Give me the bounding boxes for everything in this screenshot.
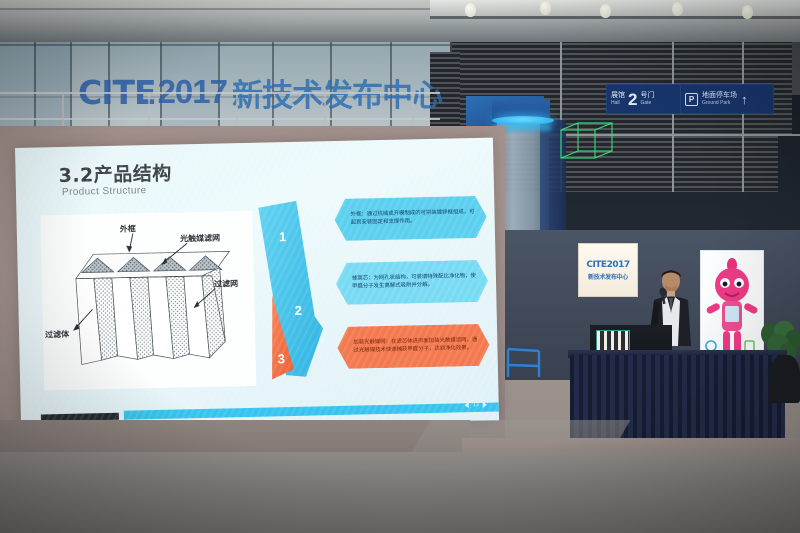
callout-step-2: 蜂窝芯：为网孔状结构，可装填特殊配比净化物，使甲醛分子发生离解式吸附并分解。 <box>336 260 489 305</box>
stage-banner-cite-text: CITE <box>586 260 606 270</box>
parking-label-cn: 地面停车场 <box>702 92 737 100</box>
stage-banner-year-text: 2017 <box>607 260 630 270</box>
gate-sign: 展馆 Hall 2 号门 Gate <box>606 84 686 114</box>
ceiling-lamp-2 <box>540 1 551 15</box>
diagram-label-filter-body: 过滤体 <box>45 329 69 341</box>
hall-label-en: Hall <box>611 100 625 106</box>
rail-post-4 <box>324 92 326 126</box>
parking-sign: P 地面停车场 Ground Park ↑ <box>680 84 774 114</box>
parking-label-en: Ground Park <box>702 100 737 106</box>
stage-banner-cite: CITE2017 <box>586 260 629 270</box>
rail-post-1 <box>62 92 64 126</box>
slide-page-number: 13 <box>473 402 479 408</box>
svg-text:3: 3 <box>277 351 285 366</box>
rail-post-2 <box>148 92 150 126</box>
svg-text:2: 2 <box>294 303 302 318</box>
gate-number: 2 <box>628 91 637 108</box>
callout-step-3: 加装光触媒网：在滤芯体进风面加装光触媒滤网，通过光触媒技术快速捕获甲醛分子，达到… <box>337 324 490 369</box>
gate-label-cn: 号门 <box>640 92 654 100</box>
blue-rail-prop <box>505 345 543 379</box>
leader-line-filter-body <box>71 308 98 333</box>
product-structure-diagram <box>40 211 256 391</box>
ceiling-lamp-4 <box>672 2 683 16</box>
leader-line-photocatalyst <box>157 242 192 267</box>
slide-subtitle: Product Structure <box>62 185 147 198</box>
hall-label-cn: 展馆 <box>611 92 625 100</box>
slide-footer-accent-bar <box>124 403 499 420</box>
ceiling-beam-2 <box>0 8 430 10</box>
rail-post-5 <box>412 92 414 126</box>
svg-text:1: 1 <box>279 229 287 244</box>
callout-step-1: 外框：通过机械或开模制成的可拼装镀锌框组成，可起到安装固定和支撑作用。 <box>334 196 487 241</box>
hall-floor <box>0 452 800 533</box>
arrow-up-icon: ↑ <box>741 93 748 106</box>
step-funnel-graphic: 1 2 3 <box>256 198 340 390</box>
wireframe-cube-decoration <box>560 122 614 172</box>
balcony-rail-top <box>0 92 440 94</box>
rail-post-3 <box>236 92 238 126</box>
presentation-slide: 3.2产品结构 Product Structure <box>15 138 499 431</box>
slide-title: 3.2产品结构 <box>58 159 172 188</box>
balcony-rail-bottom <box>0 118 440 120</box>
stage-banner-chinese: 新技术发布中心 <box>588 272 628 281</box>
next-slide-icon[interactable] <box>483 402 487 408</box>
leader-line-filter-mesh <box>190 288 218 311</box>
ceiling-lamp-1 <box>465 3 476 17</box>
foreground-dark-object <box>770 355 800 403</box>
gate-label-en: Gate <box>640 100 654 106</box>
ceiling-lamp-3 <box>600 4 611 18</box>
parking-icon: P <box>685 93 698 106</box>
presentation-hall-photo: CITE 2017 新技术发布中心 展馆 Hall 2 号门 Gate P 地面… <box>0 0 800 533</box>
previous-slide-icon[interactable] <box>465 402 469 408</box>
ceiling-lamp-5 <box>742 5 753 19</box>
stage-event-banner: CITE2017 新技术发布中心 <box>578 243 638 297</box>
leader-line-outer-frame <box>125 233 143 253</box>
slide-navigation[interactable]: 13 <box>465 402 487 408</box>
